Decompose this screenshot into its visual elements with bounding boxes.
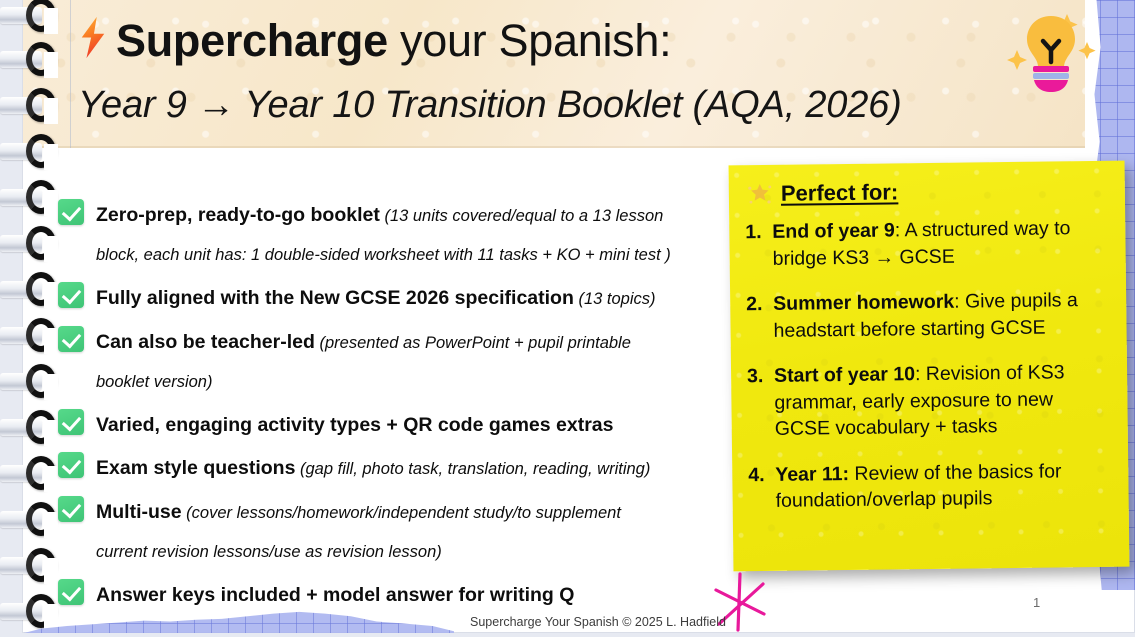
feature-item: Multi-use (cover lessons/homework/indepe… [58, 493, 723, 572]
binding-ring-loop [26, 226, 56, 260]
main-title: Supercharge your Spanish: [78, 8, 1078, 78]
sticky-item-number: 2. [746, 291, 765, 344]
feature-continuation: block, each unit has: 1 double-sided wor… [96, 236, 723, 275]
feature-continuation: current revision lessons/use as revision… [96, 533, 723, 572]
sticky-note-item: 4. Year 11: Review of the basics for fou… [748, 457, 1111, 514]
feature-bold: Answer keys included + model answer for … [96, 584, 574, 606]
feature-list: Zero-prep, ready-to-go booklet (13 units… [58, 196, 723, 619]
green-check-icon [58, 579, 84, 605]
sticky-item-body: End of year 9: A structured way to bridg… [772, 215, 1108, 272]
binding-ring [0, 226, 62, 260]
binding-ring [0, 0, 62, 32]
feature-italic: (13 units covered/equal to a 13 lesson [380, 207, 663, 225]
binding-ring-loop [26, 456, 56, 490]
feature-bold: Can also be teacher-led [96, 331, 315, 353]
binding-ring-loop [26, 410, 56, 444]
binding-ring-loop [26, 88, 56, 122]
page-bottom-strip [0, 633, 1135, 637]
binding-ring [0, 134, 62, 168]
feature-italic: (presented as PowerPoint + pupil printab… [315, 334, 631, 352]
sticky-item-number: 3. [747, 363, 766, 443]
feature-item: Varied, engaging activity types + QR cod… [58, 406, 723, 445]
title-strong-word: Supercharge [116, 15, 388, 66]
binding-ring [0, 318, 62, 352]
sticky-note: Perfect for: 1. End of year 9: A structu… [729, 161, 1130, 572]
binding-ring-loop [26, 548, 56, 582]
binding-ring [0, 88, 62, 122]
sticky-item-body: Summer homework: Give pupils a headstart… [773, 287, 1109, 344]
green-check-icon [58, 409, 84, 435]
sticky-item-number: 4. [748, 461, 767, 514]
binding-ring-loop [26, 0, 56, 32]
feature-text: Can also be teacher-led (presented as Po… [96, 323, 723, 402]
binding-ring [0, 502, 62, 536]
green-check-icon [58, 282, 84, 308]
sparkle-star-icon [745, 179, 775, 209]
feature-bold: Varied, engaging activity types + QR cod… [96, 414, 614, 436]
feature-bold: Zero-prep, ready-to-go booklet [96, 204, 380, 226]
title-rest: your Spanish: [388, 15, 671, 66]
feature-item: Zero-prep, ready-to-go booklet (13 units… [58, 196, 723, 275]
binding-ring [0, 42, 62, 76]
binding-ring-loop [26, 502, 56, 536]
feature-text: Multi-use (cover lessons/homework/indepe… [96, 493, 723, 572]
sticky-item-body: Year 11: Review of the basics for founda… [775, 457, 1111, 514]
feature-item: Exam style questions (gap fill, photo ta… [58, 449, 723, 489]
binding-ring [0, 364, 62, 398]
green-check-icon [58, 326, 84, 352]
sticky-note-item: 3. Start of year 10: Revision of KS3 gra… [747, 359, 1110, 443]
binding-ring-loop [26, 318, 56, 352]
subtitle: Year 9 → Year 10 Transition Booklet (AQA… [78, 74, 1078, 136]
binding-ring [0, 456, 62, 490]
slide-canvas: Supercharge your Spanish: Year 9 → Year … [0, 0, 1135, 637]
feature-italic: (cover lessons/homework/independent stud… [182, 504, 621, 522]
green-check-icon [58, 452, 84, 478]
sticky-item-bold: Year 11: [775, 462, 849, 485]
binding-ring-loop [26, 180, 56, 214]
sticky-note-header: Perfect for: [745, 175, 1107, 209]
feature-text: Answer keys included + model answer for … [96, 576, 723, 615]
feature-bold: Exam style questions [96, 457, 295, 479]
feature-italic: (gap fill, photo task, translation, read… [295, 460, 650, 478]
lightning-bolt-icon [78, 12, 112, 78]
feature-italic: (13 topics) [574, 290, 656, 308]
binding-ring-loop [26, 272, 56, 306]
feature-item: Fully aligned with the New GCSE 2026 spe… [58, 279, 723, 319]
sticky-note-item: 2. Summer homework: Give pupils a headst… [746, 287, 1109, 344]
green-check-icon [58, 496, 84, 522]
feature-continuation: booklet version) [96, 363, 723, 402]
sticky-item-bold: Start of year 10 [774, 363, 915, 387]
binding-ring-loop [26, 42, 56, 76]
title-block: Supercharge your Spanish: Year 9 → Year … [78, 8, 1078, 136]
sticky-note-list: 1. End of year 9: A structured way to br… [745, 215, 1111, 515]
binding-ring [0, 410, 62, 444]
page-number: 1 [1033, 595, 1040, 610]
feature-bold: Multi-use [96, 501, 182, 523]
binding-ring [0, 548, 62, 582]
green-check-icon [58, 199, 84, 225]
binding-ring-loop [26, 364, 56, 398]
footer-credit: Supercharge Your Spanish © 2025 L. Hadfi… [470, 615, 726, 629]
feature-bold: Fully aligned with the New GCSE 2026 spe… [96, 287, 574, 309]
sticky-item-body: Start of year 10: Revision of KS3 gramma… [774, 359, 1110, 443]
sticky-item-bold: Summer homework [773, 291, 954, 315]
feature-text: Zero-prep, ready-to-go booklet (13 units… [96, 196, 723, 275]
header-vertical-rule [70, 0, 71, 148]
feature-item: Can also be teacher-led (presented as Po… [58, 323, 723, 402]
sticky-note-heading: Perfect for: [781, 179, 899, 206]
feature-text: Varied, engaging activity types + QR cod… [96, 406, 723, 445]
sticky-item-bold: End of year 9 [772, 219, 895, 242]
binding-ring [0, 594, 62, 628]
binding-ring-loop [26, 594, 56, 628]
binding-ring [0, 180, 62, 214]
lightbulb-icon [1001, 4, 1097, 100]
binding-ring-loop [26, 134, 56, 168]
feature-item: Answer keys included + model answer for … [58, 576, 723, 615]
sticky-note-item: 1. End of year 9: A structured way to br… [745, 215, 1108, 272]
sticky-item-number: 1. [745, 219, 764, 272]
feature-text: Exam style questions (gap fill, photo ta… [96, 449, 723, 489]
feature-text: Fully aligned with the New GCSE 2026 spe… [96, 279, 723, 319]
binding-ring [0, 272, 62, 306]
